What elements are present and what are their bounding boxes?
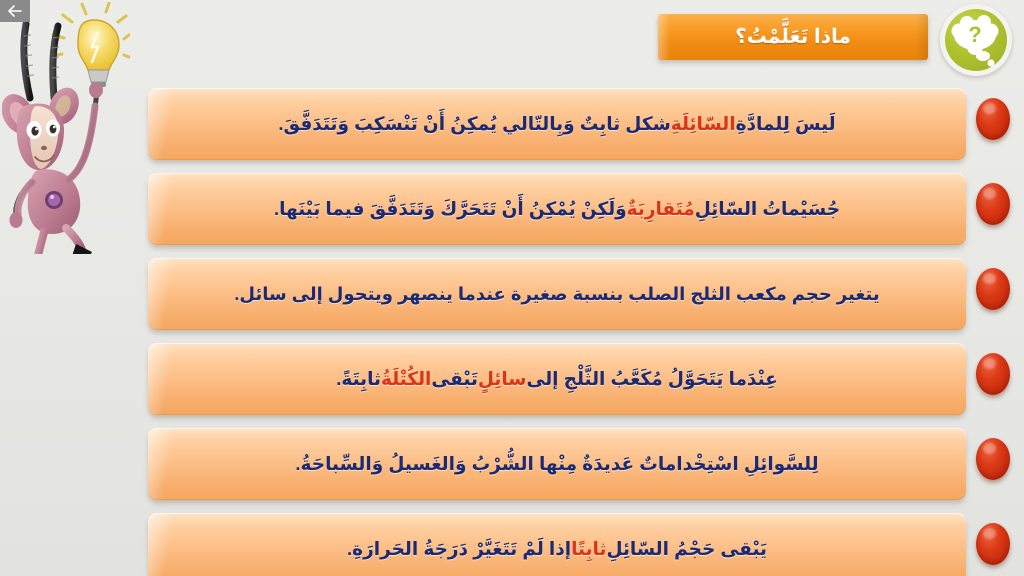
list-item[interactable]: لَيسَ لِلمادَّةِ السّائِلَةِ شكل ثابِتٌ …	[0, 84, 1024, 169]
highlighted-term: السّائِلَةِ	[671, 110, 736, 138]
list-item[interactable]: جُسَيْماتُ السّائِلِ مُتَقارِبَةٌ وَلَكِ…	[0, 169, 1024, 254]
highlighted-term: ثابِتًا	[571, 535, 606, 563]
text-segment: يتغير حجم مكعب الثلج الصلب بنسبة صغيرة ع…	[234, 281, 879, 308]
statement-text: لَيسَ لِلمادَّةِ السّائِلَةِ شكل ثابِتٌ …	[148, 88, 966, 160]
learning-points-list: لَيسَ لِلمادَّةِ السّائِلَةِ شكل ثابِتٌ …	[0, 84, 1024, 576]
statement-text: يَبْقى حَجْمُ السّائِلِ ثابِتًا إذا لَمْ…	[148, 513, 966, 576]
highlighted-term: مُتَقارِبَةٌ	[627, 195, 695, 223]
red-oval-bullet	[976, 353, 1010, 395]
thought-bubble-question-icon[interactable]: ?	[940, 4, 1012, 76]
text-segment: عِنْدَما يَتَحَوَّلُ مُكَعَّبُ الثَّلْجِ…	[527, 365, 778, 393]
text-segment: يَبْقى حَجْمُ السّائِلِ	[606, 535, 767, 563]
list-item[interactable]: لِلسَّوائِلِ اسْتِخْداماتٌ عَديدَةٌ مِنْ…	[0, 424, 1024, 509]
text-segment: إذا لَمْ تَتَغَيَّرْ دَرَجَةُ الحَرارَةِ…	[347, 535, 571, 563]
red-oval-bullet	[976, 268, 1010, 310]
slide-stage: ماذا تَعَلَّمْتُ؟ ? لَيسَ لِلمادَّةِ	[0, 0, 1024, 576]
statement-text: عِنْدَما يَتَحَوَّلُ مُكَعَّبُ الثَّلْجِ…	[148, 343, 966, 415]
statement-panel[interactable]: لَيسَ لِلمادَّةِ السّائِلَةِ شكل ثابِتٌ …	[148, 88, 966, 160]
gazelle-with-lightbulb-mascot	[2, 2, 130, 254]
statement-text: جُسَيْماتُ السّائِلِ مُتَقارِبَةٌ وَلَكِ…	[148, 173, 966, 245]
list-item[interactable]: يَبْقى حَجْمُ السّائِلِ ثابِتًا إذا لَمْ…	[0, 509, 1024, 576]
back-arrow-icon	[7, 4, 23, 18]
statement-panel[interactable]: يَبْقى حَجْمُ السّائِلِ ثابِتًا إذا لَمْ…	[148, 513, 966, 576]
text-segment: تَبْقى	[431, 365, 478, 393]
text-segment: ثابِتَةً.	[336, 365, 381, 393]
text-segment: لِلسَّوائِلِ اسْتِخْداماتٌ عَديدَةٌ مِنْ…	[295, 450, 818, 478]
list-item[interactable]: يتغير حجم مكعب الثلج الصلب بنسبة صغيرة ع…	[0, 254, 1024, 339]
statement-text: لِلسَّوائِلِ اسْتِخْداماتٌ عَديدَةٌ مِنْ…	[148, 428, 966, 500]
list-item[interactable]: عِنْدَما يَتَحَوَّلُ مُكَعَّبُ الثَّلْجِ…	[0, 339, 1024, 424]
statement-panel[interactable]: لِلسَّوائِلِ اسْتِخْداماتٌ عَديدَةٌ مِنْ…	[148, 428, 966, 500]
statement-text: يتغير حجم مكعب الثلج الصلب بنسبة صغيرة ع…	[148, 258, 966, 330]
statement-panel[interactable]: عِنْدَما يَتَحَوَّلُ مُكَعَّبُ الثَّلْجِ…	[148, 343, 966, 415]
red-oval-bullet	[976, 523, 1010, 565]
highlighted-term: الكُتْلَةُ	[381, 365, 431, 393]
text-segment: لَيسَ لِلمادَّةِ	[736, 110, 836, 138]
red-oval-bullet	[976, 438, 1010, 480]
highlighted-term: سائِلٍ	[478, 365, 527, 393]
text-segment: شكل ثابِتٌ وَبِالتّالي يُمكِنُ أَنْ تَنْ…	[278, 110, 670, 138]
back-button[interactable]	[0, 0, 30, 22]
slide-title-bar: ماذا تَعَلَّمْتُ؟	[658, 14, 928, 60]
text-segment: جُسَيْماتُ السّائِلِ	[695, 195, 840, 223]
svg-text:?: ?	[968, 22, 981, 47]
text-segment: وَلَكِنْ يُمْكِنُ أَنْ تَتَحَرَّكَ وَتَت…	[274, 195, 627, 223]
statement-panel[interactable]: جُسَيْماتُ السّائِلِ مُتَقارِبَةٌ وَلَكِ…	[148, 173, 966, 245]
red-oval-bullet	[976, 98, 1010, 140]
statement-panel[interactable]: يتغير حجم مكعب الثلج الصلب بنسبة صغيرة ع…	[148, 258, 966, 330]
badge-glyph: ?	[945, 9, 1007, 71]
page-title: ماذا تَعَلَّمْتُ؟	[658, 14, 928, 60]
red-oval-bullet	[976, 183, 1010, 225]
